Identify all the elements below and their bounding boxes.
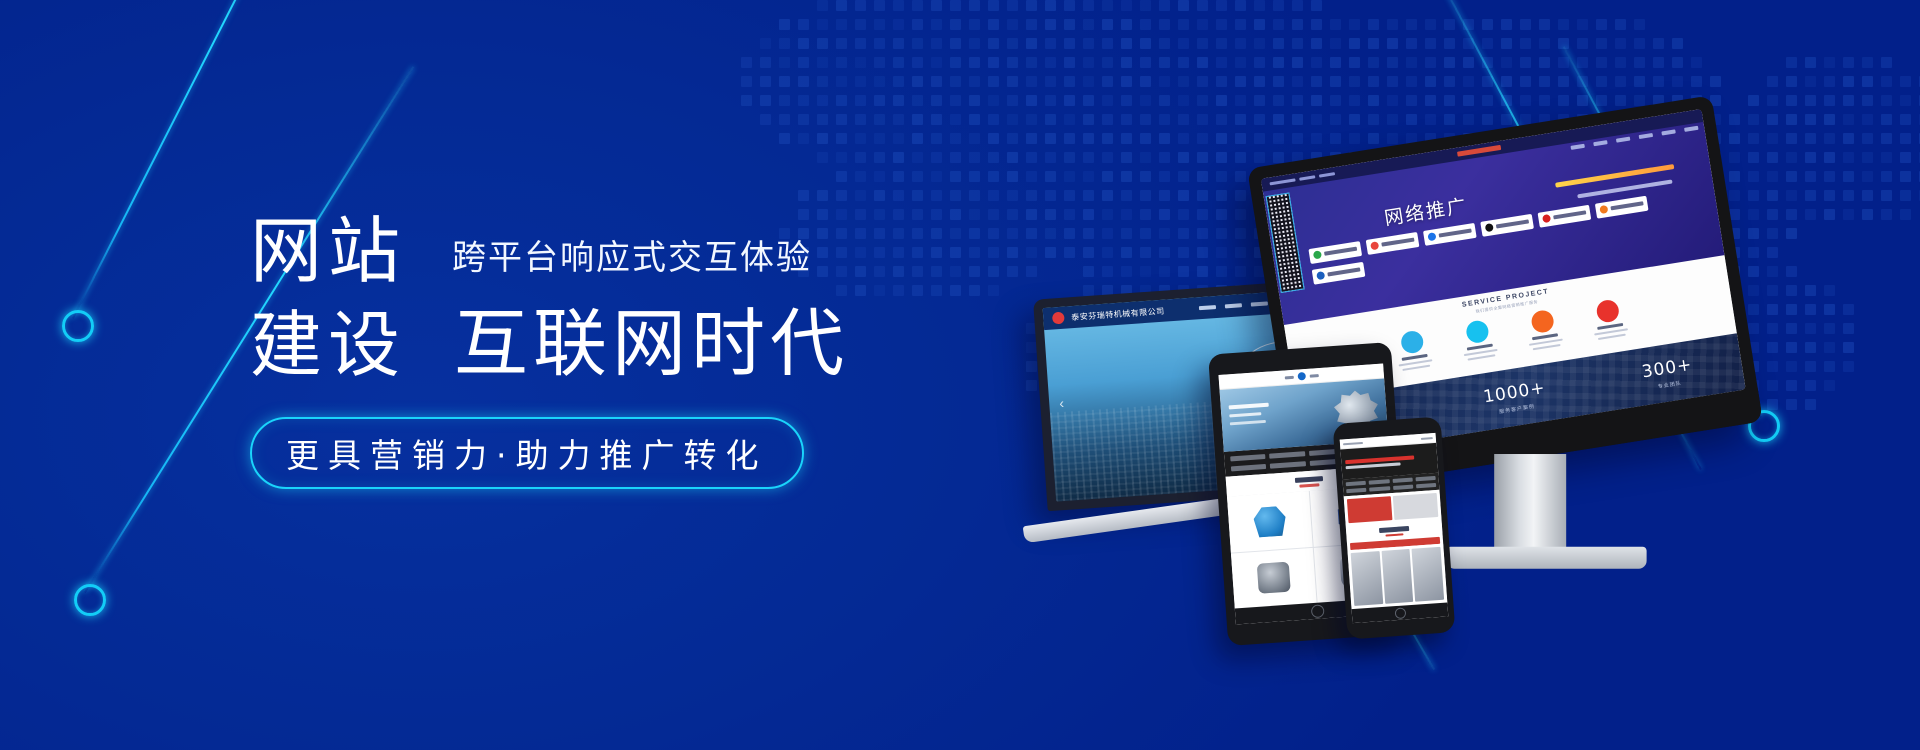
map-dot xyxy=(1577,19,1588,30)
map-dot xyxy=(931,57,942,68)
service-card xyxy=(1385,327,1442,373)
map-dot xyxy=(1463,76,1474,87)
map-dot xyxy=(1577,76,1588,87)
service-card-text xyxy=(1598,333,1626,339)
map-dot xyxy=(1064,57,1075,68)
monitor-stand-neck xyxy=(1494,454,1566,554)
map-dot xyxy=(969,19,980,30)
map-dot xyxy=(1805,133,1816,144)
map-dot xyxy=(893,247,904,258)
map-dot xyxy=(1064,19,1075,30)
map-dot xyxy=(969,171,980,182)
stat-number: 1000+ xyxy=(1482,378,1547,408)
map-dot xyxy=(1178,38,1189,49)
map-dot xyxy=(741,57,752,68)
map-dot xyxy=(1026,57,1037,68)
map-dot xyxy=(912,19,923,30)
map-dot xyxy=(1444,76,1455,87)
map-dot xyxy=(836,114,847,125)
map-dot xyxy=(912,76,923,87)
map-dot xyxy=(950,133,961,144)
map-dot xyxy=(1900,209,1911,220)
map-dot xyxy=(988,19,999,30)
service-card-text xyxy=(1533,344,1561,350)
map-dot xyxy=(874,76,885,87)
map-dot xyxy=(1007,152,1018,163)
map-dot xyxy=(1634,38,1645,49)
map-dot xyxy=(893,95,904,106)
map-dot xyxy=(1254,38,1265,49)
platform-chip xyxy=(1365,232,1419,255)
map-dot xyxy=(912,152,923,163)
map-dot xyxy=(779,76,790,87)
map-dot xyxy=(1007,247,1018,258)
map-dot xyxy=(1520,57,1531,68)
map-dot xyxy=(836,19,847,30)
nav-item xyxy=(1251,301,1268,306)
service-icon xyxy=(1530,309,1555,334)
service-card-text xyxy=(1402,364,1430,370)
map-dot xyxy=(1330,38,1341,49)
map-dot xyxy=(1634,76,1645,87)
map-dot xyxy=(1235,38,1246,49)
map-dot xyxy=(1102,76,1113,87)
map-dot xyxy=(931,209,942,220)
map-dot xyxy=(1311,76,1322,87)
map-dot xyxy=(969,247,980,258)
map-dot xyxy=(779,133,790,144)
map-dot xyxy=(1843,342,1854,353)
map-dot xyxy=(1311,38,1322,49)
map-dot xyxy=(931,190,942,201)
map-dot xyxy=(1444,95,1455,106)
map-dot xyxy=(1406,57,1417,68)
map-dot xyxy=(1805,304,1816,315)
map-dot xyxy=(855,152,866,163)
map-dot xyxy=(950,38,961,49)
nav-item xyxy=(1616,137,1630,143)
map-dot xyxy=(855,57,866,68)
map-dot xyxy=(1387,95,1398,106)
map-dot xyxy=(1463,57,1474,68)
map-dot xyxy=(817,114,828,125)
nav-item xyxy=(1416,483,1436,488)
map-dot xyxy=(817,190,828,201)
map-dot xyxy=(1862,133,1873,144)
map-dot xyxy=(1292,19,1303,30)
map-dot xyxy=(1349,95,1360,106)
map-dot xyxy=(1900,171,1911,182)
map-dot xyxy=(1843,190,1854,201)
map-dot xyxy=(969,38,980,49)
map-dot xyxy=(1083,76,1094,87)
map-dot xyxy=(1121,0,1132,11)
map-dot xyxy=(1767,95,1778,106)
map-dot xyxy=(1843,57,1854,68)
map-dot xyxy=(1007,76,1018,87)
map-dot xyxy=(1805,152,1816,163)
map-dot xyxy=(950,76,961,87)
stat-item: 1000+ 服务客户案例 xyxy=(1482,378,1548,417)
stat-label: 专业团队 xyxy=(1657,379,1682,390)
map-dot xyxy=(1178,57,1189,68)
map-dot xyxy=(893,0,904,11)
map-dot xyxy=(988,114,999,125)
map-dot xyxy=(1178,95,1189,106)
map-dot xyxy=(1881,57,1892,68)
thumbnail xyxy=(1351,551,1383,606)
map-dot xyxy=(741,76,752,87)
map-dot xyxy=(931,95,942,106)
map-dot xyxy=(817,76,828,87)
map-dot xyxy=(1881,133,1892,144)
map-dot xyxy=(1140,76,1151,87)
map-dot xyxy=(1444,19,1455,30)
map-dot xyxy=(1824,114,1835,125)
map-dot xyxy=(1824,209,1835,220)
nav-item xyxy=(1231,464,1267,471)
nav-item xyxy=(1346,481,1366,486)
map-dot xyxy=(931,133,942,144)
map-dot xyxy=(1501,57,1512,68)
map-dot xyxy=(817,95,828,106)
map-dot xyxy=(1045,76,1056,87)
map-dot xyxy=(1216,38,1227,49)
service-card xyxy=(1450,317,1507,363)
map-dot xyxy=(1026,228,1037,239)
map-dot xyxy=(893,190,904,201)
map-dot xyxy=(950,19,961,30)
map-dot xyxy=(912,209,923,220)
map-dot xyxy=(988,190,999,201)
map-dot xyxy=(855,19,866,30)
map-dot xyxy=(1843,209,1854,220)
map-dot xyxy=(1235,76,1246,87)
map-dot xyxy=(912,228,923,239)
map-dot xyxy=(1178,0,1189,11)
stat-label: 服务客户案例 xyxy=(1499,402,1536,415)
map-dot xyxy=(1197,57,1208,68)
map-dot xyxy=(836,38,847,49)
map-dot xyxy=(950,266,961,277)
map-dot xyxy=(1805,190,1816,201)
map-dot xyxy=(893,285,904,296)
map-dot xyxy=(1102,57,1113,68)
map-dot xyxy=(1463,95,1474,106)
chip-icon xyxy=(1599,205,1608,214)
map-dot xyxy=(988,0,999,11)
map-dot xyxy=(779,19,790,30)
ray-node-left-upper xyxy=(62,310,94,342)
map-dot xyxy=(1482,95,1493,106)
map-dot xyxy=(893,209,904,220)
map-dot xyxy=(1805,76,1816,87)
map-dot xyxy=(1140,19,1151,30)
map-dot xyxy=(1862,57,1873,68)
map-dot xyxy=(1273,76,1284,87)
map-dot xyxy=(1824,133,1835,144)
map-dot xyxy=(893,171,904,182)
nav-item xyxy=(1570,144,1584,150)
map-dot xyxy=(874,0,885,11)
map-dot xyxy=(1007,209,1018,220)
map-dot xyxy=(1634,19,1645,30)
map-dot xyxy=(1026,38,1037,49)
map-dot xyxy=(1900,152,1911,163)
map-dot xyxy=(1349,38,1360,49)
map-dot xyxy=(1349,19,1360,30)
map-dot xyxy=(931,266,942,277)
map-dot xyxy=(1292,76,1303,87)
map-dot xyxy=(1558,57,1569,68)
map-dot xyxy=(1121,95,1132,106)
map-dot xyxy=(1235,57,1246,68)
map-dot xyxy=(1368,95,1379,106)
map-dot xyxy=(1273,38,1284,49)
product-image xyxy=(1253,506,1287,538)
map-dot xyxy=(1254,95,1265,106)
map-dot xyxy=(1026,266,1037,277)
map-dot xyxy=(1102,0,1113,11)
map-dot xyxy=(1064,95,1075,106)
section-underline xyxy=(1385,533,1403,536)
map-dot xyxy=(1634,95,1645,106)
map-dot xyxy=(1254,0,1265,11)
map-dot xyxy=(836,171,847,182)
map-dot xyxy=(1615,95,1626,106)
map-dot xyxy=(1463,38,1474,49)
map-dot xyxy=(1653,76,1664,87)
map-dot xyxy=(1805,361,1816,372)
map-dot xyxy=(1159,38,1170,49)
map-dot xyxy=(931,285,942,296)
map-dot xyxy=(1121,76,1132,87)
device-mockup-cluster: 泰安芬瑞特机械有限公司 芬瑞特 ‹ xyxy=(1040,120,1800,660)
map-dot xyxy=(1444,38,1455,49)
map-dot xyxy=(1881,209,1892,220)
phone-mockup xyxy=(1333,416,1456,639)
map-dot xyxy=(1691,57,1702,68)
map-dot xyxy=(1558,95,1569,106)
map-dot xyxy=(836,0,847,11)
map-dot xyxy=(1900,95,1911,106)
map-dot xyxy=(893,266,904,277)
map-dot xyxy=(1121,19,1132,30)
hero-text-line xyxy=(1230,420,1266,426)
chip-label xyxy=(1438,229,1471,238)
headline-row-1: 网站 跨平台响应式交互体验 xyxy=(250,215,890,287)
map-dot xyxy=(1805,57,1816,68)
service-card xyxy=(1515,306,1572,352)
nav-item xyxy=(1392,478,1412,483)
monitor-stand-foot xyxy=(1447,547,1647,569)
chip-label xyxy=(1496,220,1529,229)
map-dot xyxy=(1254,19,1265,30)
map-dot xyxy=(988,171,999,182)
map-dot xyxy=(1045,95,1056,106)
map-dot xyxy=(1026,247,1037,258)
home-button-icon[interactable] xyxy=(1394,607,1406,619)
map-dot xyxy=(836,76,847,87)
map-dot xyxy=(1102,19,1113,30)
map-dot xyxy=(931,114,942,125)
nav-item xyxy=(1593,140,1607,146)
map-dot xyxy=(779,95,790,106)
map-dot xyxy=(931,228,942,239)
map-dot xyxy=(1425,38,1436,49)
map-dot xyxy=(1216,57,1227,68)
map-dot xyxy=(1710,76,1721,87)
tablet-site-logo-icon xyxy=(1297,372,1306,381)
map-dot xyxy=(1216,76,1227,87)
map-dot xyxy=(1824,76,1835,87)
map-dot xyxy=(1672,38,1683,49)
map-dot xyxy=(912,266,923,277)
map-dot xyxy=(1805,323,1816,334)
map-dot xyxy=(1368,19,1379,30)
chip-icon xyxy=(1484,223,1493,232)
feature-tile xyxy=(1393,493,1439,520)
map-dot xyxy=(931,171,942,182)
map-dot xyxy=(1843,114,1854,125)
map-dot xyxy=(1292,95,1303,106)
map-dot xyxy=(1197,76,1208,87)
nav-item xyxy=(1369,486,1389,491)
service-icon xyxy=(1595,298,1620,323)
hero-banner: 网站 跨平台响应式交互体验 建设 互联网时代 更具营销力·助力推广转化 泰安芬瑞… xyxy=(0,0,1920,750)
map-dot xyxy=(1197,95,1208,106)
map-dot xyxy=(1026,380,1037,391)
product-image xyxy=(1257,562,1291,594)
tablet-brand-label xyxy=(1309,374,1318,378)
map-dot xyxy=(1501,19,1512,30)
map-dot xyxy=(912,190,923,201)
product-cell xyxy=(1231,547,1317,608)
laptop-site-logo-icon xyxy=(1052,312,1065,325)
map-dot xyxy=(1482,76,1493,87)
chip-label xyxy=(1610,202,1643,211)
map-dot xyxy=(1425,76,1436,87)
map-dot xyxy=(1140,0,1151,11)
section-heading xyxy=(1294,476,1322,483)
map-dot xyxy=(1387,38,1398,49)
ray-node-left-lower xyxy=(74,584,106,616)
map-dot xyxy=(1615,19,1626,30)
map-dot xyxy=(1216,19,1227,30)
carousel-prev-icon[interactable]: ‹ xyxy=(1059,395,1065,411)
map-dot xyxy=(1482,57,1493,68)
map-dot xyxy=(1805,285,1816,296)
nav-item xyxy=(1199,305,1216,310)
map-dot xyxy=(931,247,942,258)
map-dot xyxy=(1862,114,1873,125)
map-dot xyxy=(798,57,809,68)
map-dot xyxy=(1102,95,1113,106)
map-dot xyxy=(1824,57,1835,68)
stat-item: 300+ 专业团队 xyxy=(1640,354,1695,392)
map-dot xyxy=(969,228,980,239)
map-dot xyxy=(760,114,771,125)
map-dot xyxy=(1140,38,1151,49)
nav-item xyxy=(1639,133,1653,139)
map-dot xyxy=(988,38,999,49)
map-dot xyxy=(1007,228,1018,239)
nav-item xyxy=(1225,303,1242,308)
map-dot xyxy=(1824,323,1835,334)
map-dot xyxy=(1539,76,1550,87)
tagline-badge: 更具营销力·助力推广转化 xyxy=(250,417,804,489)
map-dot xyxy=(836,95,847,106)
map-dot xyxy=(1900,76,1911,87)
map-dot xyxy=(1159,95,1170,106)
map-dot xyxy=(1273,19,1284,30)
map-dot xyxy=(1577,57,1588,68)
feature-tile xyxy=(1347,496,1393,523)
map-dot xyxy=(1045,38,1056,49)
map-dot xyxy=(1330,95,1341,106)
map-dot xyxy=(855,38,866,49)
map-dot xyxy=(969,133,980,144)
map-dot xyxy=(893,76,904,87)
map-dot xyxy=(931,76,942,87)
map-dot xyxy=(1843,133,1854,144)
map-dot xyxy=(1216,95,1227,106)
headline-primary-line2: 建设 xyxy=(250,309,406,381)
map-dot xyxy=(950,228,961,239)
platform-chip xyxy=(1480,214,1534,237)
home-button-icon[interactable] xyxy=(1311,604,1325,618)
map-dot xyxy=(1159,0,1170,11)
map-dot xyxy=(1900,190,1911,201)
qr-code-icon xyxy=(1266,192,1305,293)
map-dot xyxy=(760,76,771,87)
map-dot xyxy=(1520,38,1531,49)
map-dot xyxy=(1843,152,1854,163)
map-dot xyxy=(1273,0,1284,11)
map-dot xyxy=(855,0,866,11)
map-dot xyxy=(855,114,866,125)
map-dot xyxy=(1824,95,1835,106)
map-dot xyxy=(1881,152,1892,163)
map-dot xyxy=(988,152,999,163)
map-dot xyxy=(1634,57,1645,68)
map-dot xyxy=(1444,57,1455,68)
thumbnail xyxy=(1412,547,1444,602)
map-dot xyxy=(1159,76,1170,87)
map-dot xyxy=(1520,76,1531,87)
map-dot xyxy=(1672,76,1683,87)
map-dot xyxy=(1140,95,1151,106)
map-dot xyxy=(798,95,809,106)
map-dot xyxy=(855,171,866,182)
chip-icon xyxy=(1542,214,1551,223)
map-dot xyxy=(912,171,923,182)
menu-icon xyxy=(1284,375,1293,379)
map-dot xyxy=(1881,171,1892,182)
map-dot xyxy=(1786,57,1797,68)
platform-chip xyxy=(1308,241,1362,264)
map-dot xyxy=(1064,38,1075,49)
map-dot xyxy=(1197,38,1208,49)
map-dot xyxy=(798,190,809,201)
nav-item xyxy=(1415,476,1435,481)
map-dot xyxy=(1007,266,1018,277)
map-dot xyxy=(874,114,885,125)
map-dot xyxy=(931,0,942,11)
map-dot xyxy=(779,57,790,68)
map-dot xyxy=(1843,323,1854,334)
map-dot xyxy=(1349,57,1360,68)
